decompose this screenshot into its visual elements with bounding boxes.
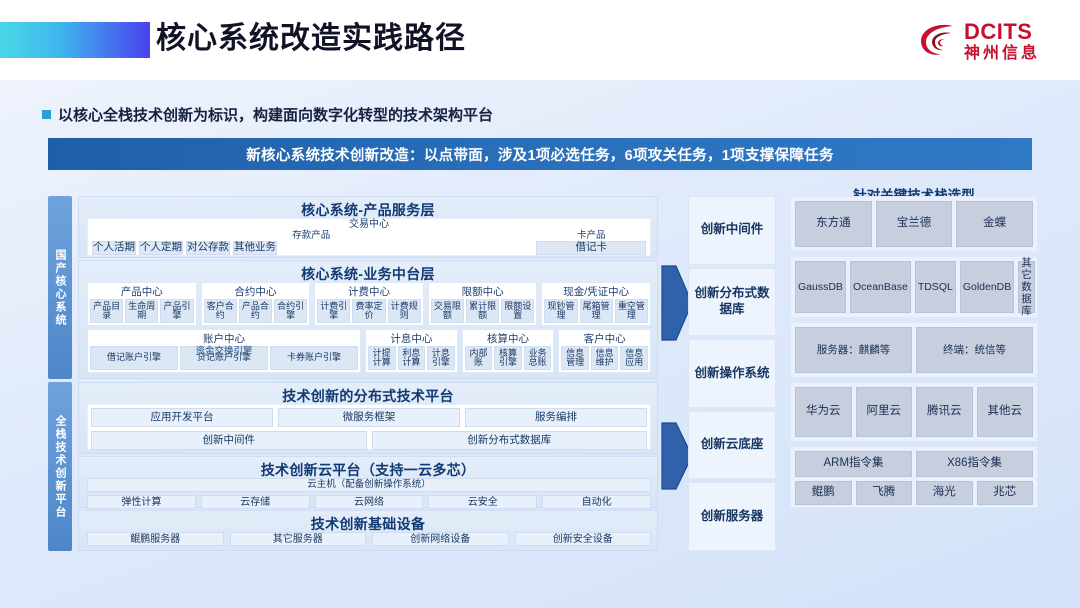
slide-header: 核心系统改造实践路径 DCITS 神州信息 [0,0,1080,80]
innovation-task-column: 创新中间件 创新分布式数据库 创新操作系统 创新云底座 创新服务器 [688,196,776,551]
module-cell[interactable]: 核算引擎 [494,346,522,370]
tech-stack-selection-column: 针对关键技术栈选型 东方通 宝兰德 金蝶 GaussDB OceanBase T… [790,196,1038,551]
infra-chip[interactable]: 鲲鹏服务器 [87,532,224,546]
instruction-set-chip[interactable]: X86指令集 [916,451,1033,477]
vendor-chip[interactable]: 阿里云 [856,387,913,437]
task-card-distributed-db[interactable]: 创新分布式数据库 [688,268,776,337]
task-card-middleware[interactable]: 创新中间件 [688,196,776,265]
chip-vendor-chip[interactable]: 飞腾 [856,481,913,505]
panel-cloud-platform: 技术创新云平台（支持一云多芯） 云主机（配备创新操作系统） 弹性计算 云存储 云… [78,456,658,508]
module-cell[interactable]: 费率定价 [352,299,385,323]
group-title: 合约中心 [202,283,310,299]
vendor-block-middleware: 东方通 宝兰德 金蝶 [790,196,1038,252]
logo-text-cn: 神州信息 [964,46,1040,62]
vendor-chip[interactable]: 华为云 [795,387,852,437]
module-cell[interactable]: 信息维护 [591,346,619,370]
center-group-contract: 合约中心 客户合约 产品合约 合约引擎 [201,282,311,326]
module-cell[interactable]: 借记账户引擎 [90,346,178,370]
infra-chip[interactable]: 创新安全设备 [515,532,652,546]
module-cell[interactable]: 计费规则 [388,299,421,323]
module-cell[interactable]: 利息计算 [398,346,426,370]
product-chip[interactable]: 借记卡 [536,241,646,255]
module-cell[interactable]: 产品合约 [239,299,272,323]
module-cell[interactable]: 限额设置 [501,299,534,323]
cloud-capability-chip[interactable]: 云存储 [201,495,310,509]
logo-text-en: DCITS [964,21,1040,43]
infra-chip[interactable]: 创新网络设备 [372,532,509,546]
panel-business-middle-layer: 核心系统-业务中台层 产品中心 产品目录 生命周期 产品引擎 合约中心 客户合约… [78,260,658,379]
panel-title: 技术创新云平台（支持一云多芯） [79,457,657,480]
overlay-label-fund-exchange-engine: 资金交换引擎 [195,347,252,357]
cloud-capability-chip[interactable]: 自动化 [542,495,651,509]
sidebar-label-text: 全栈技术创新平台 [52,415,68,519]
panel-title: 核心系统-业务中台层 [79,261,657,284]
vendor-chip[interactable]: 服务器：麒麟等 [795,327,912,373]
module-cell[interactable]: 信息应用 [620,346,648,370]
center-group-cash-voucher: 现金/凭证中心 现钞管理 尾箱管理 重空管理 [541,282,651,326]
group-title: 计息中心 [366,330,457,346]
vendor-chip[interactable]: GoldenDB [960,261,1014,313]
module-cell[interactable]: 生命周期 [125,299,158,323]
panel-infrastructure: 技术创新基础设备 鲲鹏服务器 其它服务器 创新网络设备 创新安全设备 [78,510,658,551]
vendor-chip[interactable]: 腾讯云 [916,387,973,437]
vendor-chip[interactable]: GaussDB [795,261,846,313]
subtitle-text: 以核心全栈技术创新为标识，构建面向数字化转型的技术架构平台 [58,104,493,125]
chip-vendor-chip[interactable]: 兆芯 [977,481,1034,505]
group-title: 核算中心 [463,330,554,346]
slide-root: 核心系统改造实践路径 DCITS 神州信息 以核心全栈技术创新为标识，构建面向数… [0,0,1080,608]
tech-chip[interactable]: 创新分布式数据库 [372,431,648,450]
module-cell[interactable]: 计息引擎 [427,346,455,370]
chip-vendor-chip[interactable]: 鲲鹏 [795,481,852,505]
transaction-center-label: 交易中心 [88,219,650,231]
cloud-capability-chip[interactable]: 云网络 [315,495,424,509]
sidebar-label-text: 国产核心系统 [52,249,68,327]
dcits-swoosh-icon [918,20,958,62]
module-cell[interactable]: 内部账 [465,346,493,370]
group-title: 现金/凭证中心 [542,283,650,299]
bullet-square-icon [42,110,51,119]
module-cell[interactable]: 卡券账户引擎 [270,346,358,370]
module-cell[interactable]: 客户合约 [204,299,237,323]
task-card-server[interactable]: 创新服务器 [688,482,776,551]
chip-vendor-chip[interactable]: 海光 [916,481,973,505]
tech-chip[interactable]: 微服务框架 [278,408,460,427]
center-group-product: 产品中心 产品目录 生命周期 产品引擎 [87,282,197,326]
module-cell[interactable]: 信息管理 [561,346,589,370]
group-label-card-products: 卡产品 [536,231,646,241]
panel-product-service-layer: 核心系统-产品服务层 交易中心 存款产品 个人活期 个人定期 对公存款 其他业务 [78,196,658,258]
product-chip[interactable]: 其他业务 [233,241,277,255]
vendor-chip[interactable]: 其它数据库 [1018,261,1035,313]
page-title: 核心系统改造实践路径 [156,18,466,60]
group-title: 账户中心 [88,330,360,346]
tech-chip[interactable]: 服务编排 [465,408,647,427]
banner-text: 新核心系统技术创新改造：以点带面，涉及1项必选任务，6项攻关任务，1项支撑保障任… [246,144,834,165]
center-group-accounting: 核算中心 内部账 核算引擎 业务总账 [462,329,555,373]
group-title: 客户中心 [559,330,650,346]
panel-title: 核心系统-产品服务层 [79,197,657,220]
module-cell[interactable]: 计费引擎 [317,299,350,323]
header-accent-bar [0,22,150,58]
module-cell[interactable]: 产品引擎 [160,299,193,323]
dcits-logo: DCITS 神州信息 [918,18,1040,64]
center-group-limit: 限额中心 交易限额 累计限额 限额设置 [428,282,538,326]
vendor-block-cloud: 华为云 阿里云 腾讯云 其他云 [790,382,1038,442]
banner: 新核心系统技术创新改造：以点带面，涉及1项必选任务，6项攻关任务，1项支撑保障任… [48,138,1032,170]
module-cell[interactable]: 业务总账 [524,346,552,370]
vendor-block-os: 服务器：麒麟等 终端：统信等 [790,322,1038,378]
task-card-os[interactable]: 创新操作系统 [688,339,776,408]
group-title: 计费中心 [315,283,423,299]
vendor-chip[interactable]: OceanBase [850,261,911,313]
subtitle: 以核心全栈技术创新为标识，构建面向数字化转型的技术架构平台 [42,104,493,125]
module-cell[interactable]: 交易限额 [431,299,464,323]
module-cell[interactable]: 现钞管理 [544,299,577,323]
module-cell[interactable]: 尾箱管理 [580,299,613,323]
center-group-account: 账户中心 借记账户引擎 贷记账户引擎 卡券账户引擎 资金交换引擎 [87,329,361,373]
vendor-chip[interactable]: TDSQL [915,261,956,313]
infra-chip[interactable]: 其它服务器 [230,532,367,546]
group-title: 限额中心 [429,283,537,299]
module-cell[interactable]: 合约引擎 [274,299,307,323]
module-cell[interactable]: 产品目录 [90,299,123,323]
vendor-chip[interactable]: 终端：统信等 [916,327,1033,373]
cloud-host-chip[interactable]: 云主机（配备创新操作系统） [87,478,651,492]
center-group-billing: 计费中心 计费引擎 费率定价 计费规则 [314,282,424,326]
tech-chip[interactable]: 应用开发平台 [91,408,273,427]
cloud-capability-chip[interactable]: 云安全 [428,495,537,509]
vendor-chip[interactable]: 宝兰德 [876,201,953,247]
sidebar-label-domestic-core: 国产核心系统 [48,196,72,379]
group-label-deposit-products: 存款产品 [92,231,530,241]
instruction-set-chip[interactable]: ARM指令集 [795,451,912,477]
product-chip[interactable]: 个人定期 [139,241,183,255]
group-title: 产品中心 [88,283,196,299]
vendor-block-database: GaussDB OceanBase TDSQL GoldenDB 其它数据库 [790,256,1038,318]
panel-title: 技术创新基础设备 [79,511,657,534]
panel-distributed-tech-platform: 技术创新的分布式技术平台 应用开发平台 微服务框架 服务编排 创新中间件 创新分… [78,382,658,454]
module-cell[interactable]: 重空管理 [615,299,648,323]
product-chip[interactable]: 个人活期 [92,241,136,255]
module-cell[interactable]: 计提计算 [368,346,396,370]
cloud-capability-chip[interactable]: 弹性计算 [87,495,196,509]
vendor-chip[interactable]: 东方通 [795,201,872,247]
vendor-block-chips: ARM指令集 X86指令集 鲲鹏 飞腾 海光 兆芯 [790,446,1038,508]
sidebar-label-fullstack-platform: 全栈技术创新平台 [48,382,72,551]
product-chip[interactable]: 对公存款 [186,241,230,255]
task-card-cloud-base[interactable]: 创新云底座 [688,411,776,480]
vendor-chip[interactable]: 其他云 [977,387,1034,437]
module-cell[interactable]: 累计限额 [466,299,499,323]
vendor-chip[interactable]: 金蝶 [956,201,1033,247]
center-group-customer: 客户中心 信息管理 信息维护 信息应用 [558,329,651,373]
center-group-interest: 计息中心 计提计算 利息计算 计息引擎 [365,329,458,373]
tech-chip[interactable]: 创新中间件 [91,431,367,450]
panel-title: 技术创新的分布式技术平台 [79,383,657,406]
left-architecture-column: 国产核心系统 全栈技术创新平台 核心系统-产品服务层 交易中心 存款产品 个人活… [48,196,658,551]
